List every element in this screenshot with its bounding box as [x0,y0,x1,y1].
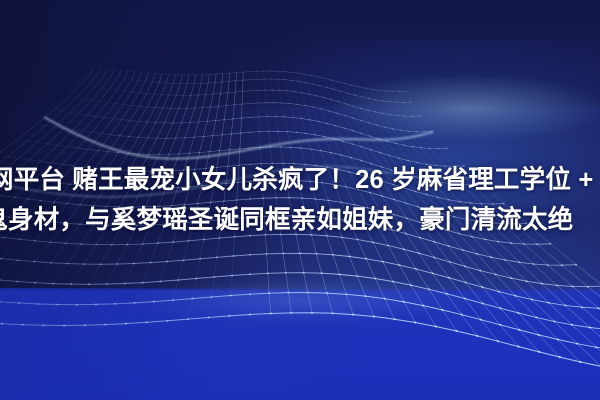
banner-image: 配资网平台 赌王最宠小女儿杀疯了！26 岁麻省理工学位 + 魔鬼身材，与奚梦瑶圣… [0,0,600,400]
headline-text: 配资网平台 赌王最宠小女儿杀疯了！26 岁麻省理工学位 + 魔鬼身材，与奚梦瑶圣… [0,160,600,240]
headline-block: 配资网平台 赌王最宠小女儿杀疯了！26 岁麻省理工学位 + 魔鬼身材，与奚梦瑶圣… [0,0,600,400]
